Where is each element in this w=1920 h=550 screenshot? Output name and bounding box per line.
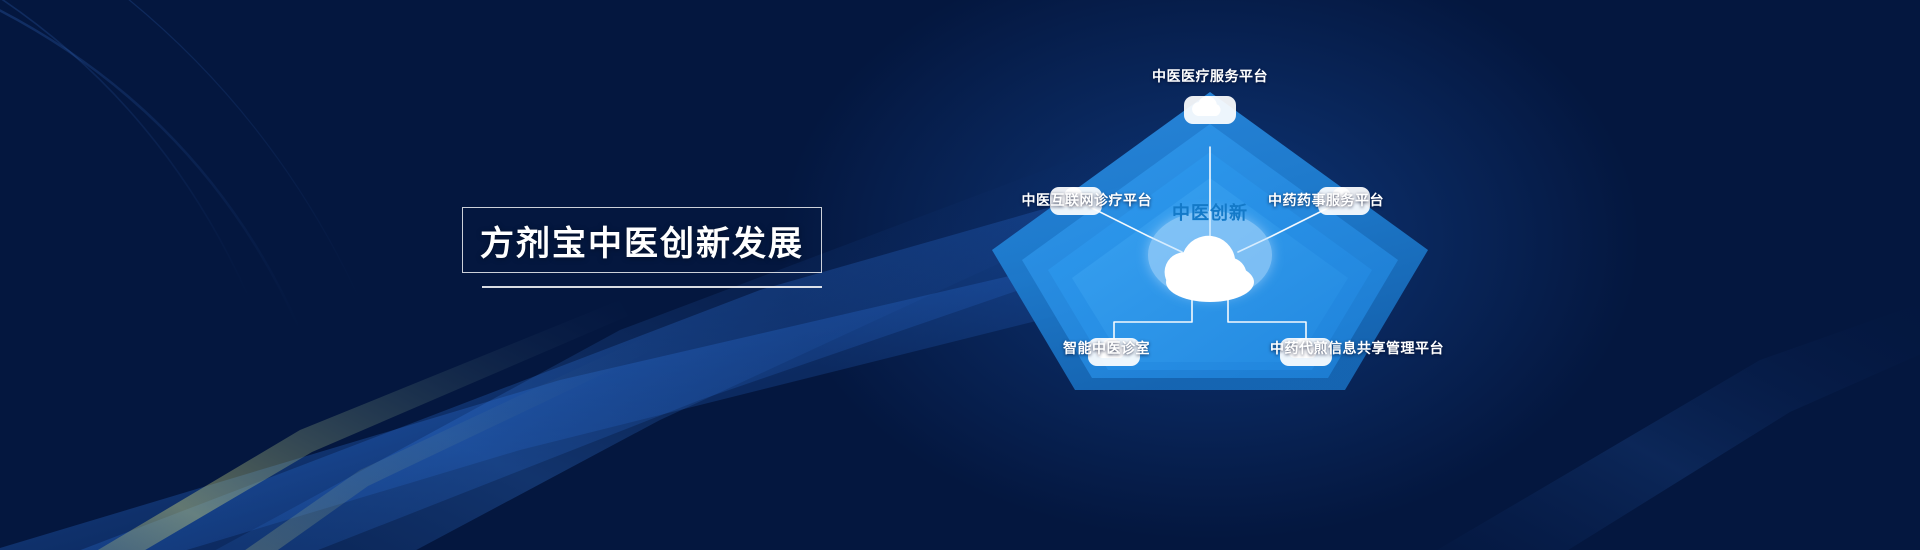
node-label-upper-right: 中药药事服务平台 — [1268, 190, 1568, 210]
page-title: 方剂宝中医创新发展 — [480, 216, 804, 265]
node-label-top: 中医医疗服务平台 — [930, 66, 1490, 86]
hero-title-box: 方剂宝中医创新发展 — [462, 207, 822, 273]
node-label-lower-left: 智能中医诊室 — [850, 338, 1150, 358]
cloud-icon-top[interactable] — [1182, 92, 1238, 126]
node-badge-top — [1048, 88, 1104, 118]
banner-root: 方剂宝中医创新发展 — [0, 0, 1920, 550]
node-label-upper-left: 中医互联网诊疗平台 — [852, 190, 1152, 210]
node-label-lower-right: 中药代煎信息共享管理平台 — [1270, 338, 1570, 358]
cloud-icon-center[interactable] — [1142, 208, 1278, 304]
title-underline-rule — [482, 286, 822, 288]
platform-pentagon-diagram: 中医创新 中医医疗服务平台 中药药事服务平台 中药代煎信息共享管理平台 智能中医… — [930, 40, 1490, 440]
hero-title-block: 方剂宝中医创新发展 — [462, 207, 822, 273]
